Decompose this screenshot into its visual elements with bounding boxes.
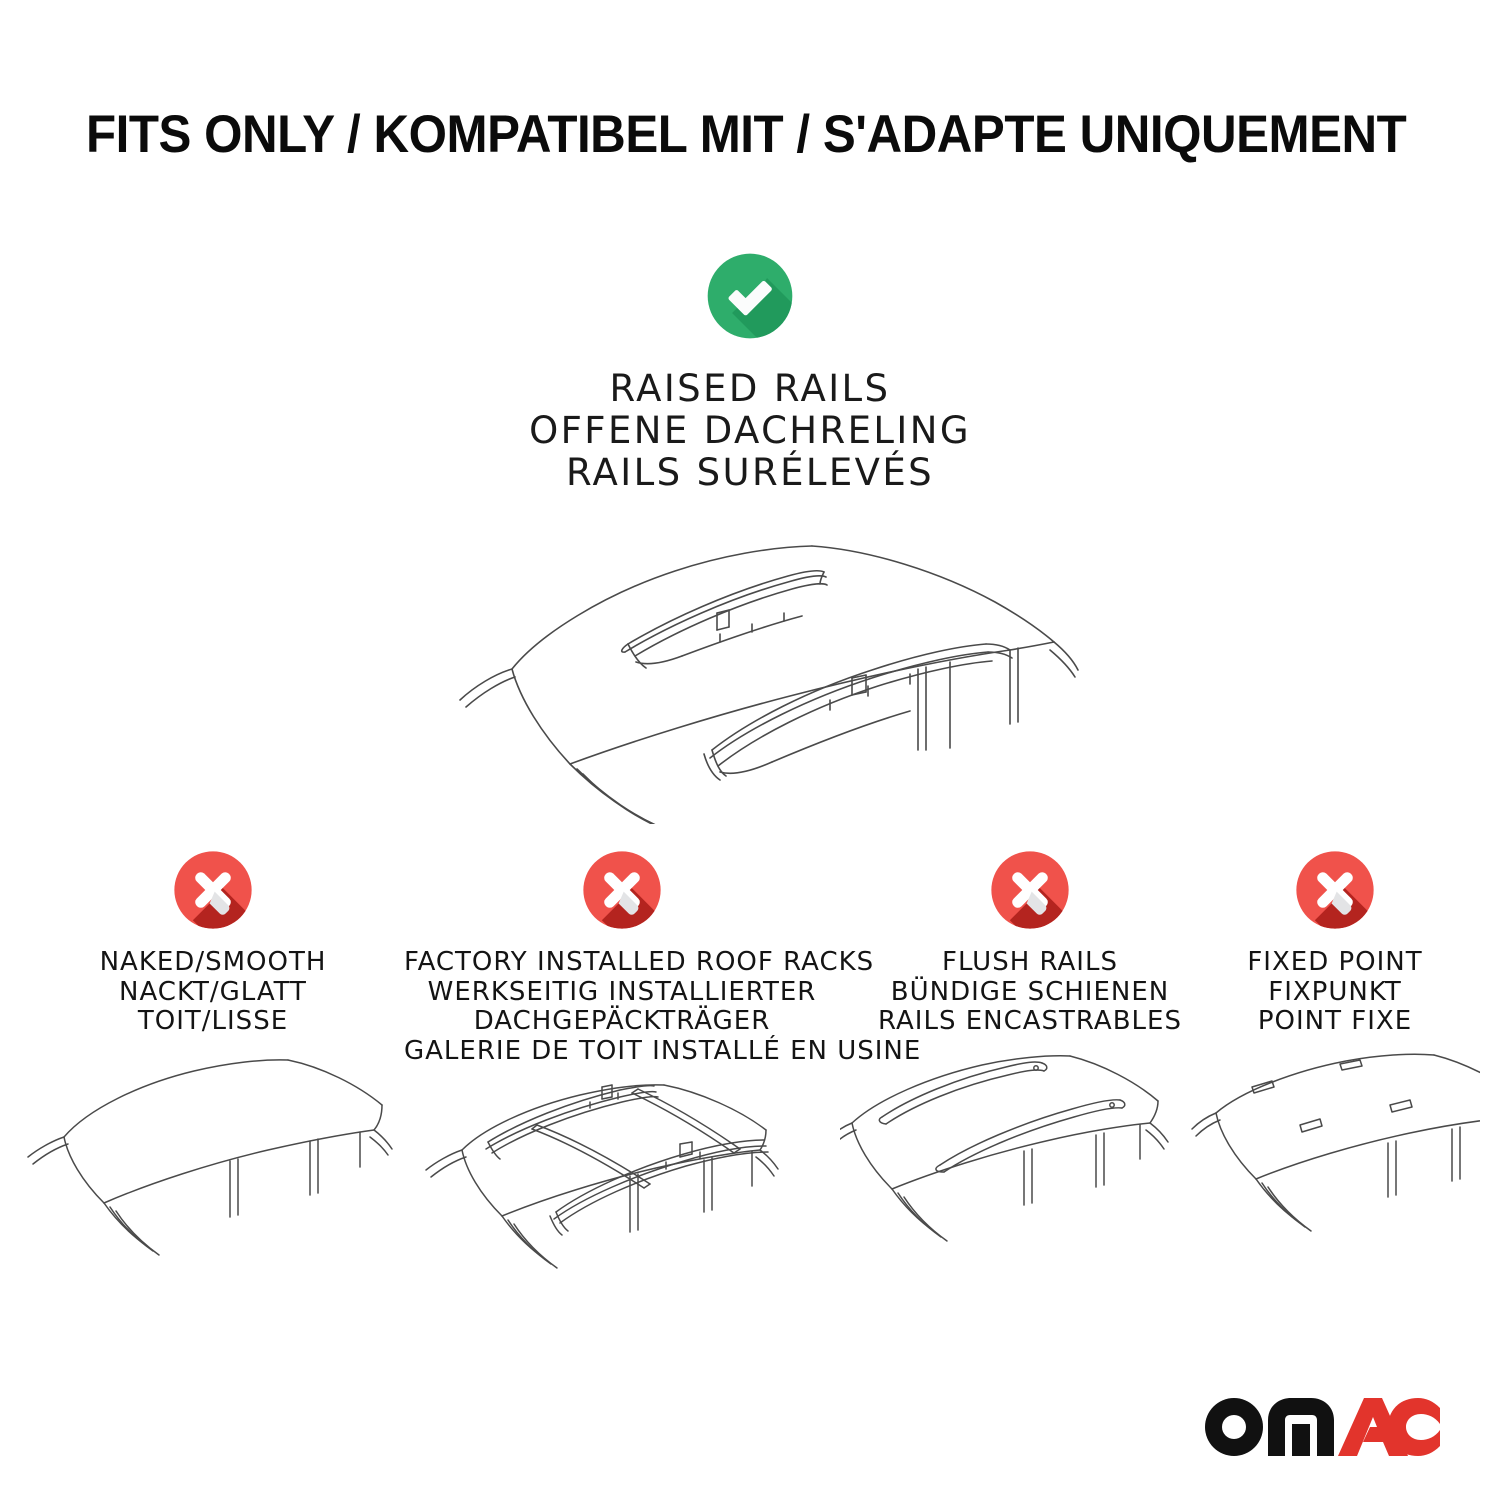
compatible-section: RAISED RAILS OFFENE DACHRELING RAILS SUR… xyxy=(0,250,1500,824)
label-line: FIXPUNKT xyxy=(1190,978,1480,1008)
incompatible-label-fixed-point: FIXED POINT FIXPUNKT POINT FIXE xyxy=(1190,948,1480,1037)
incompatible-item-flush-rails: FLUSH RAILS BÜNDIGE SCHIENEN RAILS ENCAS… xyxy=(840,848,1220,1281)
car-roof-flush-rails-illustration xyxy=(840,1051,1220,1281)
label-line: FACTORY INSTALLED ROOF RACKS xyxy=(404,948,840,978)
incompatible-label-naked-smooth: NAKED/SMOOTH NACKT/GLATT TOIT/LISSE xyxy=(22,948,404,1037)
incompatible-section: NAKED/SMOOTH NACKT/GLATT TOIT/LISSE xyxy=(0,848,1500,1308)
car-roof-fixed-point-illustration xyxy=(1190,1051,1480,1281)
compatible-label-line-2: OFFENE DACHRELING xyxy=(0,410,1500,452)
label-line: FLUSH RAILS xyxy=(840,948,1220,978)
car-roof-with-raised-rails-illustration xyxy=(420,514,1080,824)
compatible-label-line-1: RAISED RAILS xyxy=(0,368,1500,410)
incompatible-item-naked-smooth: NAKED/SMOOTH NACKT/GLATT TOIT/LISSE xyxy=(22,848,404,1281)
label-line: BÜNDIGE SCHIENEN xyxy=(840,978,1220,1008)
omac-logo xyxy=(1204,1396,1440,1458)
car-roof-naked-smooth-illustration xyxy=(22,1051,404,1281)
incompatible-label-flush-rails: FLUSH RAILS BÜNDIGE SCHIENEN RAILS ENCAS… xyxy=(840,948,1220,1037)
compatible-label: RAISED RAILS OFFENE DACHRELING RAILS SUR… xyxy=(0,368,1500,494)
compatible-label-line-3: RAILS SURÉLEVÉS xyxy=(0,452,1500,494)
red-cross-icon xyxy=(171,848,255,932)
car-roof-factory-roof-racks-illustration xyxy=(404,1080,840,1310)
incompatible-item-factory-roof-racks: FACTORY INSTALLED ROOF RACKS WERKSEITIG … xyxy=(404,848,840,1310)
label-line: WERKSEITIG INSTALLIERTER xyxy=(404,978,840,1008)
red-cross-icon xyxy=(988,848,1072,932)
label-line: POINT FIXE xyxy=(1190,1007,1480,1037)
label-line: FIXED POINT xyxy=(1190,948,1480,978)
label-line: TOIT/LISSE xyxy=(22,1007,404,1037)
incompatible-item-fixed-point: FIXED POINT FIXPUNKT POINT FIXE xyxy=(1190,848,1480,1281)
page-title: FITS ONLY / KOMPATIBEL MIT / S'ADAPTE UN… xyxy=(86,108,1332,161)
label-line: RAILS ENCASTRABLES xyxy=(840,1007,1220,1037)
label-line: NAKED/SMOOTH xyxy=(22,948,404,978)
label-line: NACKT/GLATT xyxy=(22,978,404,1008)
label-line: DACHGEPÄCKTRÄGER xyxy=(404,1007,840,1037)
incompatible-label-factory-roof-racks: FACTORY INSTALLED ROOF RACKS WERKSEITIG … xyxy=(404,948,840,1066)
green-check-icon xyxy=(704,250,796,342)
red-cross-icon xyxy=(580,848,664,932)
label-line: GALERIE DE TOIT INSTALLÉ EN USINE xyxy=(404,1037,840,1067)
red-cross-icon xyxy=(1293,848,1377,932)
